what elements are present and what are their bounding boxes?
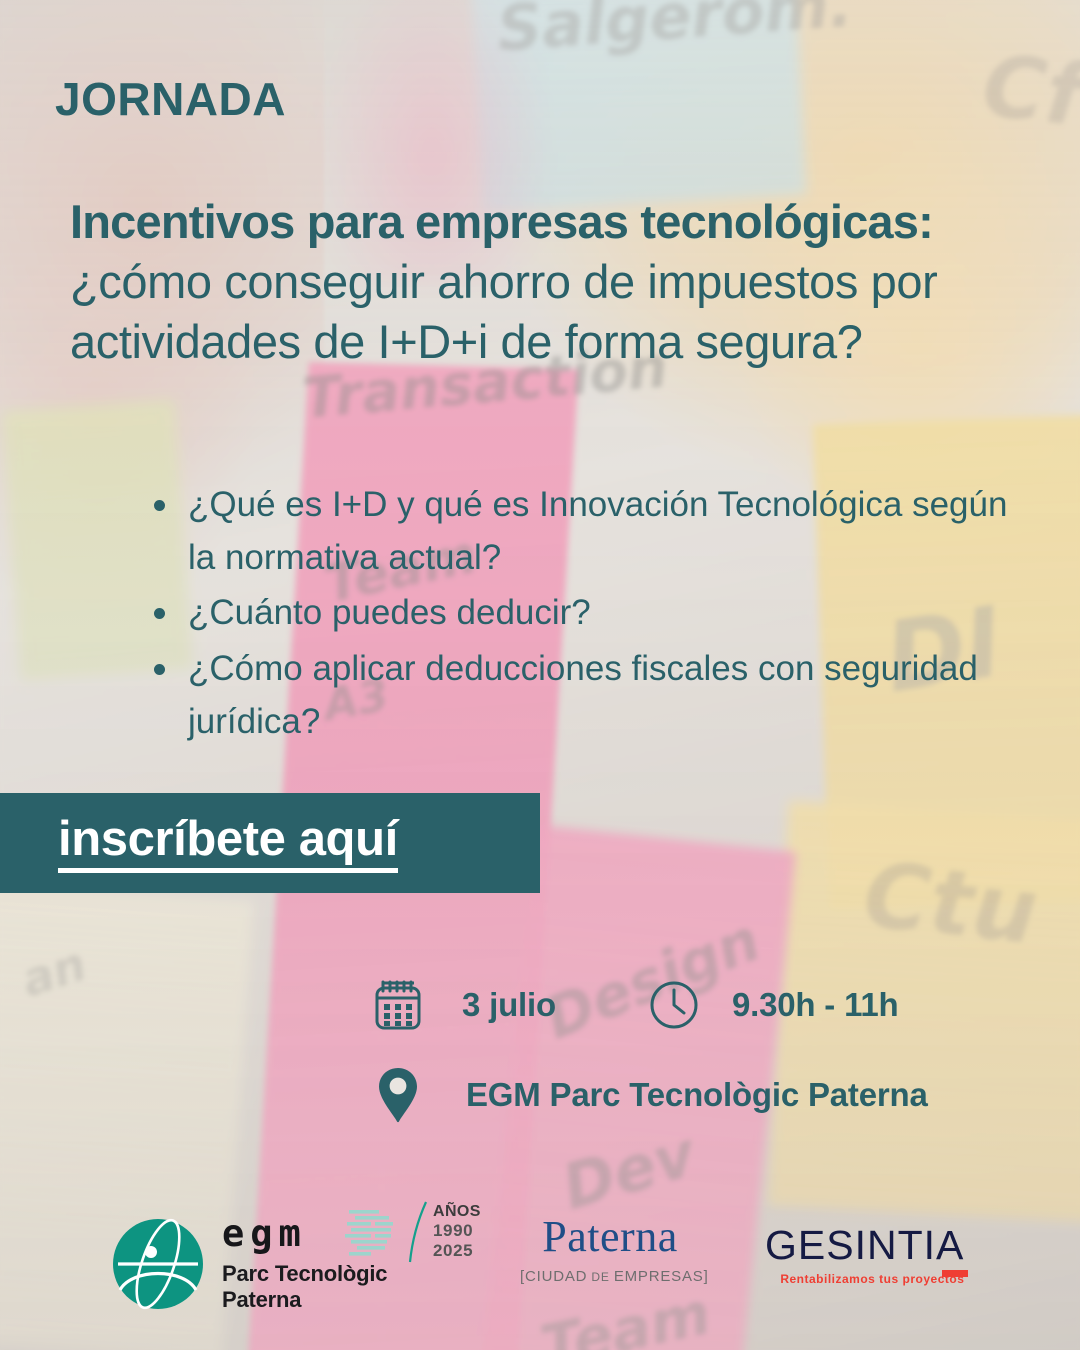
partner-logos: egm Parc Tecnològic Paterna (0, 1185, 1080, 1350)
event-location: EGM Parc Tecnològic Paterna (466, 1076, 928, 1114)
event-location-row: EGM Parc Tecnològic Paterna (370, 1065, 928, 1125)
headline-line-3: actividades de I+D+i de forma segura? (70, 312, 1075, 372)
clock-icon (646, 975, 702, 1035)
event-date-time-row: 3 julio 9.30h - 11h (370, 975, 928, 1035)
register-link-label[interactable]: inscríbete aquí (58, 813, 398, 874)
logo-paterna-ciudad-de-empresas: Paterna [CIUDAD DE EMPRESAS] (520, 1215, 700, 1285)
gesintia-name: GESINTIA (765, 1225, 964, 1266)
event-time: 9.30h - 11h (732, 986, 899, 1024)
event-date: 3 julio (462, 986, 556, 1024)
paterna-tagline-ciudad: CIUDAD (525, 1268, 587, 1285)
headline-line-1: Incentivos para empresas tecnológicas: (70, 192, 1075, 252)
calendar-icon (370, 975, 426, 1035)
paterna-tagline-empresas: EMPRESAS (614, 1268, 704, 1285)
anniversary-years-label: AÑOS (433, 1203, 481, 1222)
anniversary-year-to: 2025 (433, 1241, 481, 1261)
paterna-tagline-de: DE (587, 1270, 614, 1284)
anniversary-number-icon (345, 1207, 407, 1257)
eyebrow-label: JORNADA (55, 72, 286, 126)
page-title: Incentivos para empresas tecnológicas: ¿… (70, 192, 1075, 372)
map-pin-icon (370, 1065, 426, 1125)
egm-atom-icon (110, 1216, 206, 1312)
list-item: ¿Cuánto puedes deducir? (148, 586, 1028, 639)
logo-gesintia: GESINTIA Rentabilizamos tus proyectos (765, 1225, 964, 1286)
anniversary-text-block: AÑOS 1990 2025 (433, 1203, 481, 1262)
logo-35-anniversary: AÑOS 1990 2025 (345, 1197, 490, 1267)
list-item: ¿Qué es I+D y qué es Innovación Tecnológ… (148, 478, 1028, 584)
anniversary-slash-icon (407, 1200, 429, 1264)
register-cta-banner[interactable]: inscríbete aquí (0, 793, 540, 893)
event-details: 3 julio 9.30h - 11h EGM Parc Tecnològic … (370, 975, 928, 1125)
paterna-tagline: [CIUDAD DE EMPRESAS] (520, 1268, 700, 1285)
headline-line-2: ¿cómo conseguir ahorro de impuestos por (70, 252, 1075, 312)
gesintia-accent-dash-icon (942, 1270, 968, 1277)
paterna-bracket-close: ] (704, 1268, 709, 1285)
agenda-list: ¿Qué es I+D y qué es Innovación Tecnológ… (148, 478, 1028, 750)
list-item: ¿Cómo aplicar deducciones fiscales con s… (148, 642, 1028, 748)
paterna-name: Paterna (520, 1215, 700, 1259)
egm-subtitle-line-2: Paterna (222, 1287, 387, 1313)
anniversary-year-from: 1990 (433, 1221, 481, 1241)
gesintia-tagline: Rentabilizamos tus proyectos (765, 1272, 964, 1286)
